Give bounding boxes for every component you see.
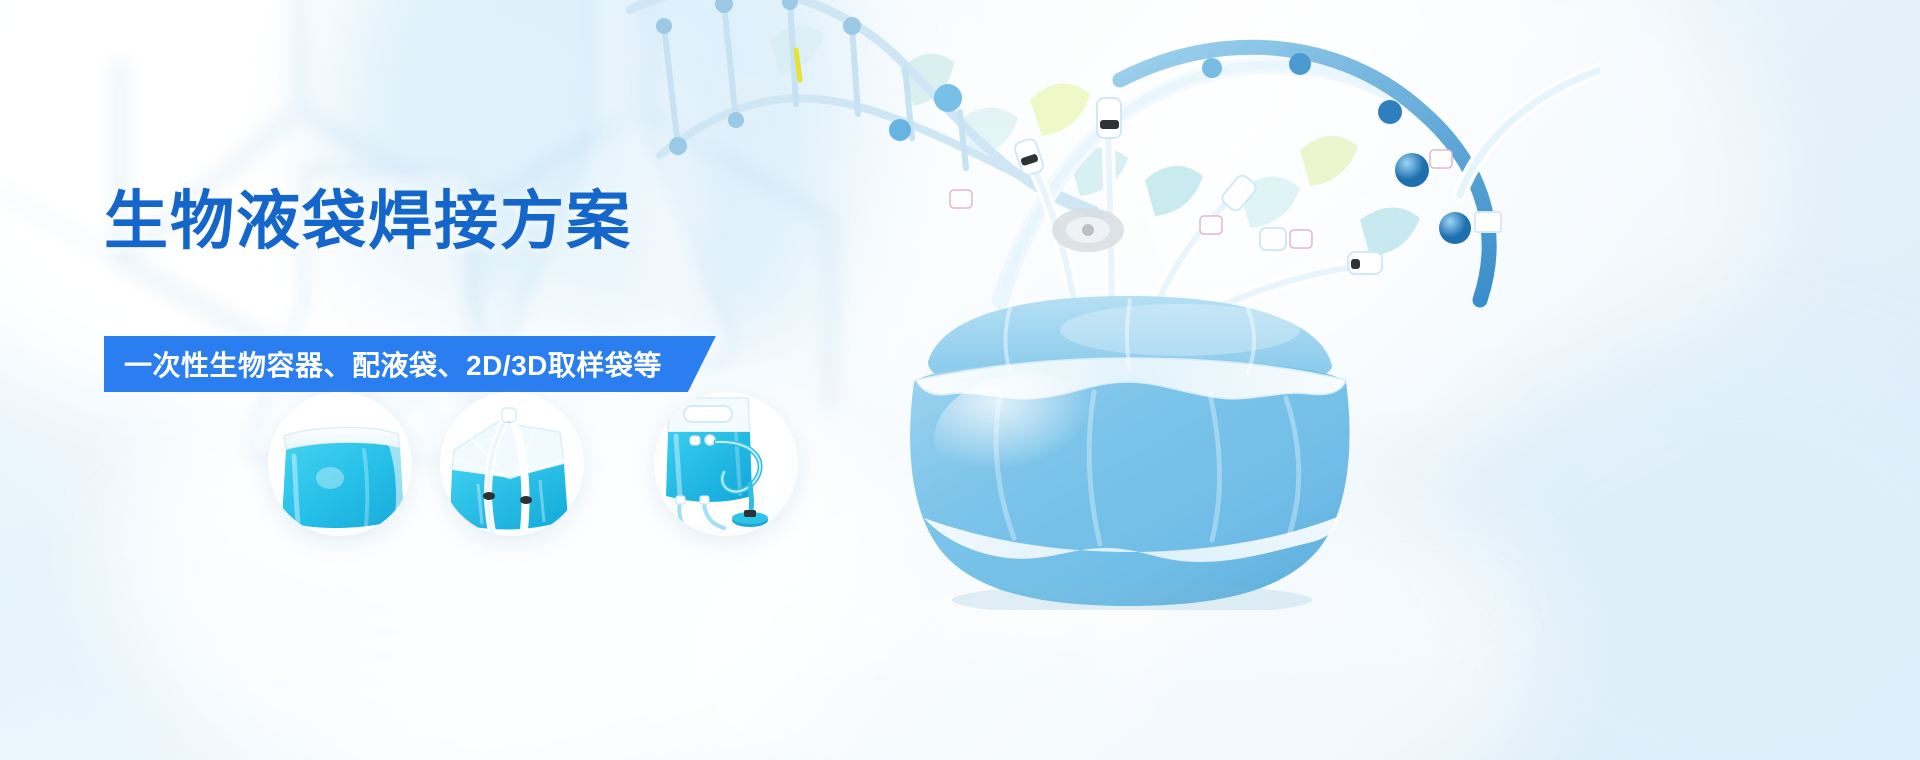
- product-thumb-2[interactable]: [440, 392, 584, 536]
- product-thumb-1[interactable]: [268, 392, 412, 536]
- hero-banner: 生物液袋焊接方案 一次性生物容器、配液袋、2D/3D取样袋等: [0, 0, 1920, 760]
- page-title: 生物液袋焊接方案: [104, 186, 632, 258]
- background-blob: [1430, 330, 1920, 760]
- subtitle-ribbon: 一次性生物容器、配液袋、2D/3D取样袋等: [104, 336, 716, 392]
- tubing-bag-icon: [440, 392, 584, 536]
- pillow-bag-icon: [268, 392, 412, 536]
- handle-bag-icon: [654, 392, 798, 536]
- bioreactor-bag-icon: [880, 290, 1380, 610]
- product-thumb-3[interactable]: [654, 392, 798, 536]
- subtitle-text: 一次性生物容器、配液袋、2D/3D取样袋等: [124, 344, 662, 384]
